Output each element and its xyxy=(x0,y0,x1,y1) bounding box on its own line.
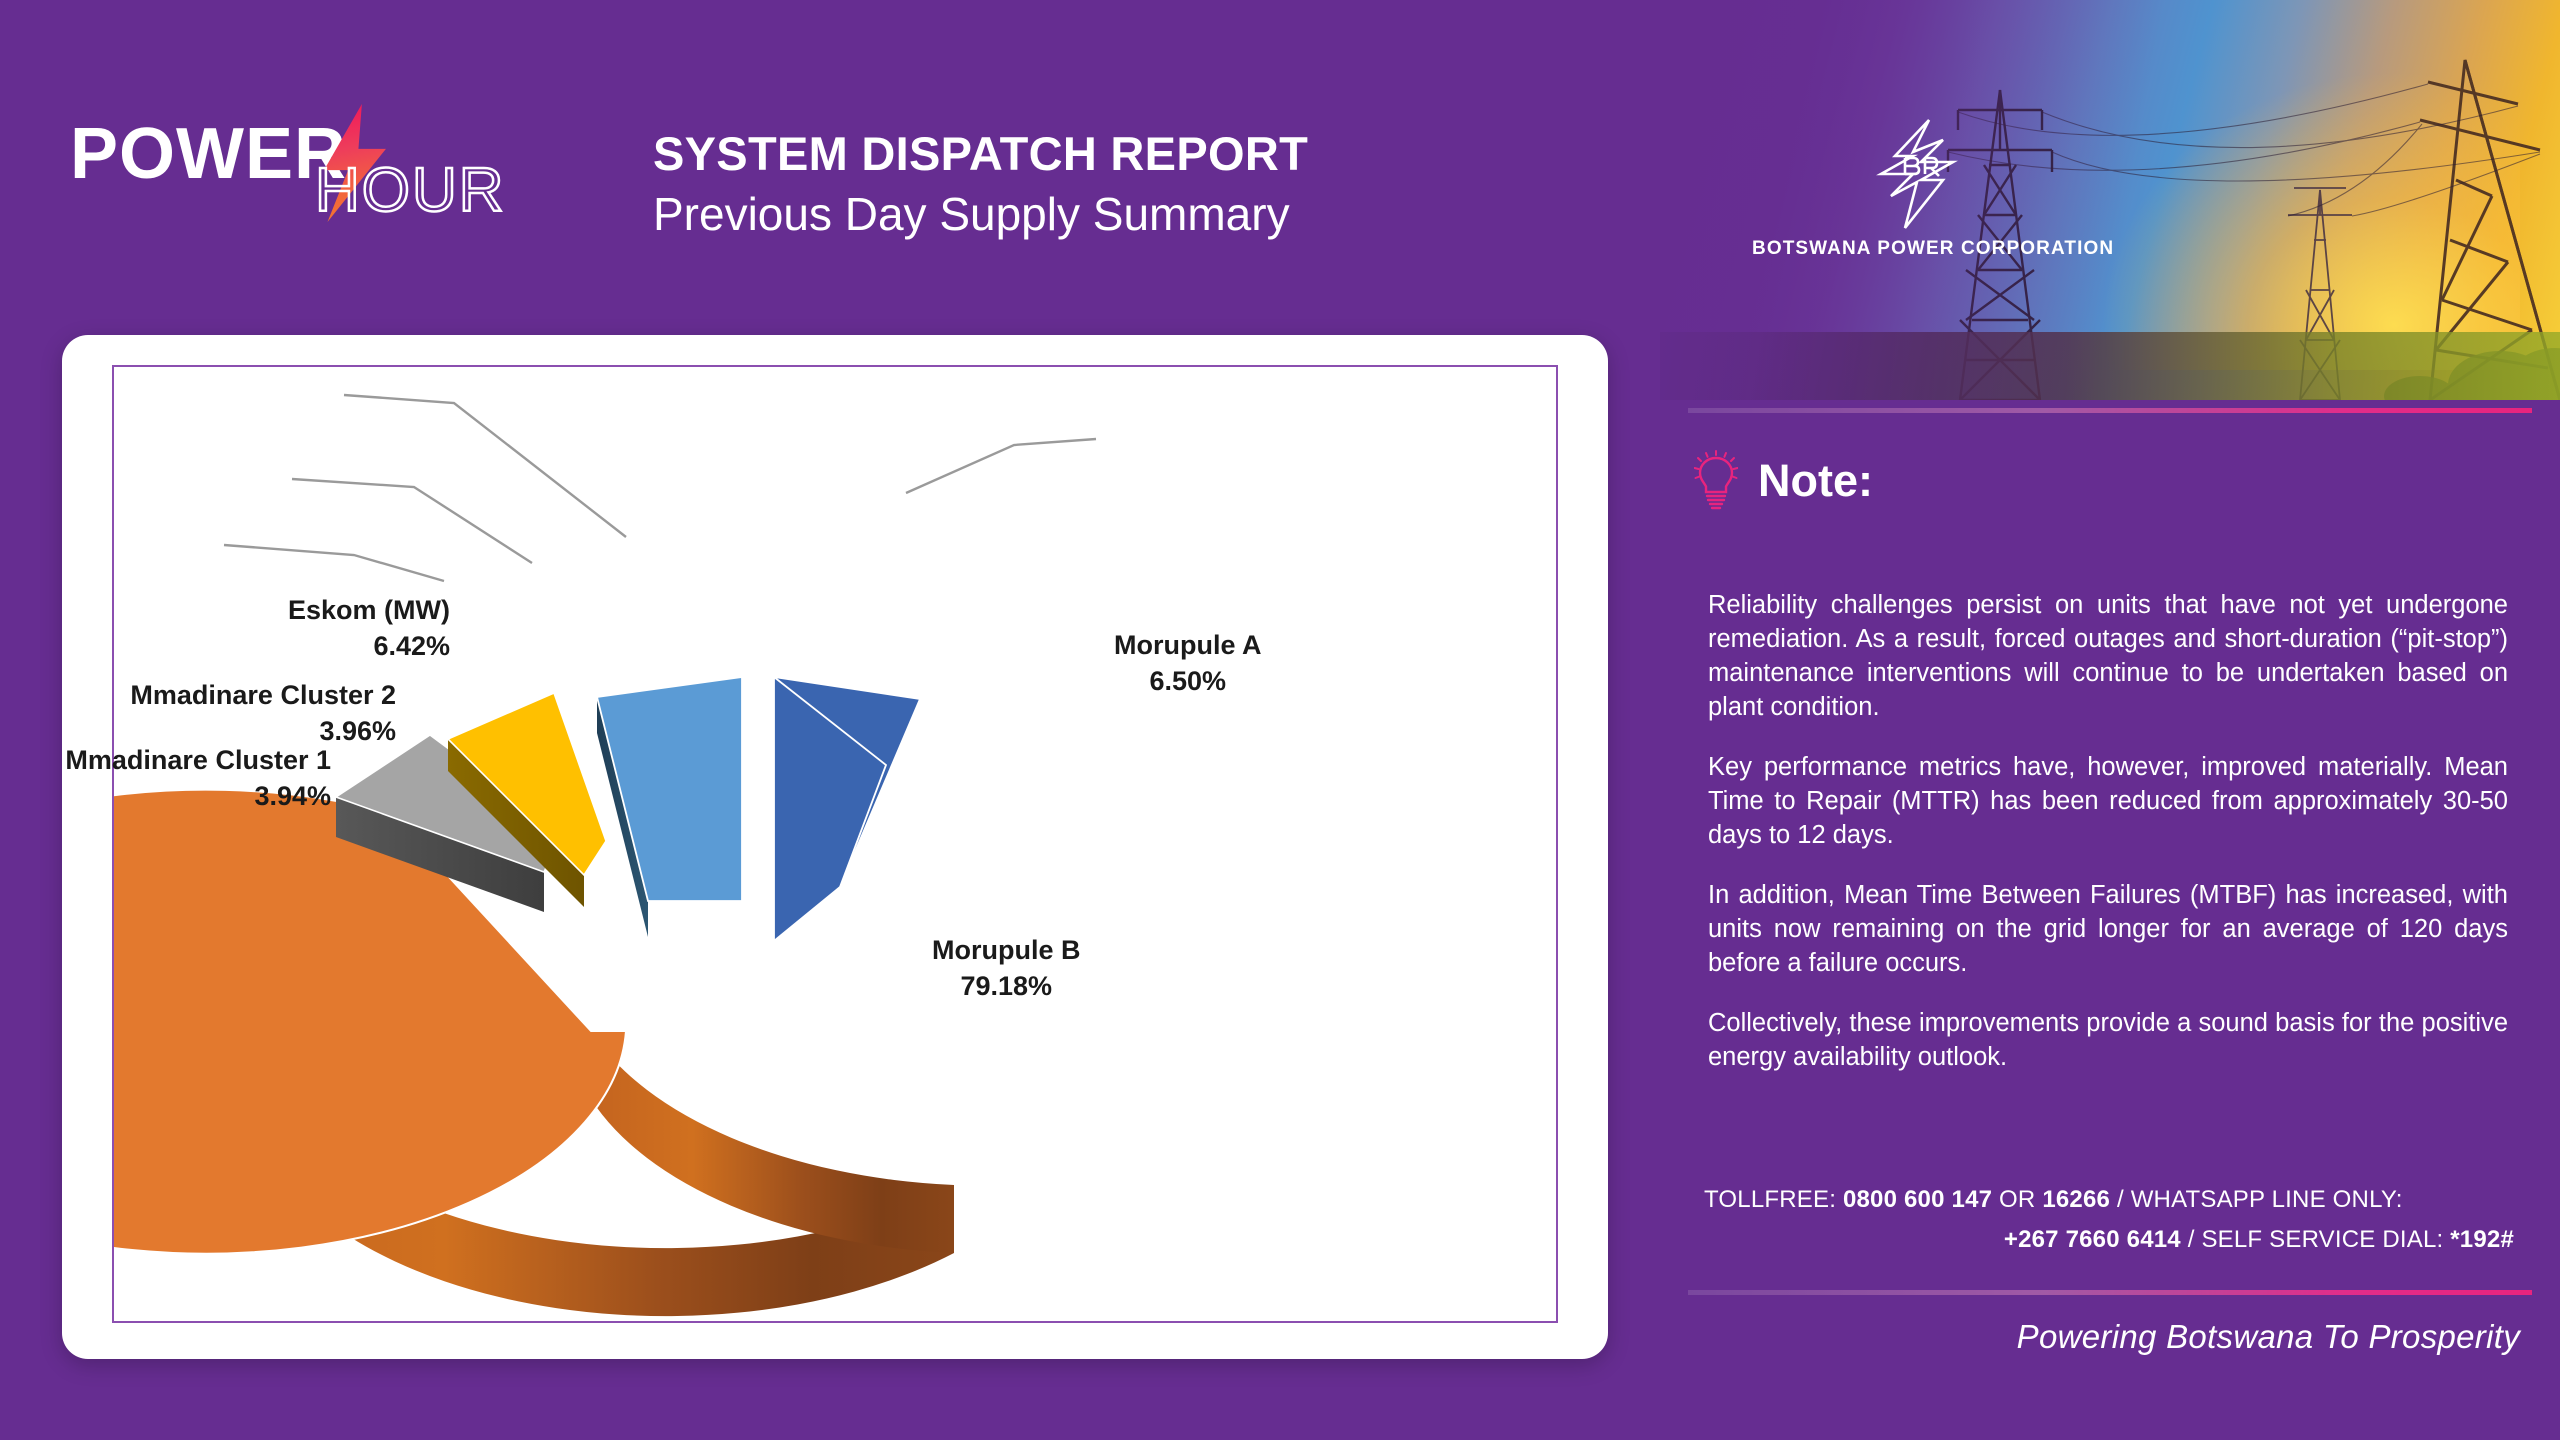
tollfree-number[interactable]: 0800 600 147 xyxy=(1843,1186,1992,1213)
leader-line-eskom xyxy=(344,395,626,537)
note-paragraph-4: Collectively, these improvements provide… xyxy=(1708,1006,2508,1074)
separator-1: / xyxy=(2117,1186,2124,1213)
pie-label-mc1-value: 3.94% xyxy=(65,778,331,814)
contact-line-1: TOLLFREE: 0800 600 147 OR 16266 / WHATSA… xyxy=(1704,1180,2514,1220)
pie-label-mc2-name: Mmadinare Cluster 2 xyxy=(130,677,396,713)
note-paragraph-3: In addition, Mean Time Between Failures … xyxy=(1708,878,2508,980)
pie-label-morupule-b: Morupule B 79.18% xyxy=(932,932,1081,1004)
logo-word-power: POWER xyxy=(70,118,347,190)
or-label: OR xyxy=(1999,1186,2035,1213)
pie-label-mmadinare-cluster-2: Mmadinare Cluster 2 3.96% xyxy=(130,677,396,749)
pie-label-eskom: Eskom (MW) 6.42% xyxy=(288,592,450,664)
note-paragraph-1: Reliability challenges persist on units … xyxy=(1708,588,2508,724)
contact-line-2: +267 7660 6414 / SELF SERVICE DIAL: *192… xyxy=(1704,1220,2514,1260)
page-subtitle: Previous Day Supply Summary xyxy=(653,186,1533,242)
pie-label-morupule-a: Morupule A 6.50% xyxy=(1114,627,1262,699)
selfservice-label: SELF SERVICE DIAL: xyxy=(2201,1226,2443,1253)
tollfree-alt-number[interactable]: 16266 xyxy=(2042,1186,2110,1213)
bpc-logo: BOTSWANA POWER CORPORATION xyxy=(1752,118,2082,260)
tagline: Powering Botswana To Prosperity xyxy=(1660,1318,2520,1356)
whatsapp-number[interactable]: +267 7660 6414 xyxy=(2004,1226,2181,1253)
pie-chart: Eskom (MW) 6.42% Mmadinare Cluster 2 3.9… xyxy=(114,367,1556,1321)
pie-label-eskom-name: Eskom (MW) xyxy=(288,592,450,628)
pie-label-morupule-a-value: 6.50% xyxy=(1114,663,1262,699)
page-title: SYSTEM DISPATCH REPORT xyxy=(653,126,1533,182)
pie-label-eskom-value: 6.42% xyxy=(288,628,450,664)
contact-block: TOLLFREE: 0800 600 147 OR 16266 / WHATSA… xyxy=(1704,1180,2514,1260)
separator-2: / xyxy=(2188,1226,2195,1253)
report-header: SYSTEM DISPATCH REPORT Previous Day Supp… xyxy=(653,126,1533,242)
bpc-lightning-logo-icon xyxy=(1869,118,1965,230)
whatsapp-label: WHATSAPP LINE ONLY: xyxy=(2131,1186,2403,1213)
note-paragraph-2: Key performance metrics have, however, i… xyxy=(1708,750,2508,852)
note-title: Note: xyxy=(1758,456,1873,506)
chart-card: Eskom (MW) 6.42% Mmadinare Cluster 2 3.9… xyxy=(62,335,1608,1359)
pie-label-mc1-name: Mmadinare Cluster 1 xyxy=(65,742,331,778)
slice-side-morupule-b-2 xyxy=(591,1031,954,1253)
leader-line-mmadinare-1 xyxy=(224,545,444,581)
leader-line-morupule-a xyxy=(906,439,1096,493)
right-panel: BOTSWANA POWER CORPORATION Note: Reliabi… xyxy=(1660,0,2560,1440)
leader-line-mmadinare-2 xyxy=(292,479,532,563)
pie-label-mmadinare-cluster-1: Mmadinare Cluster 1 3.94% xyxy=(65,742,331,814)
company-name: BOTSWANA POWER CORPORATION xyxy=(1752,238,2082,260)
power-hour-logo: POWER HOUR xyxy=(62,118,582,228)
pie-label-morupule-b-value: 79.18% xyxy=(932,968,1081,1004)
lightbulb-icon xyxy=(1694,450,1738,512)
divider-bottom xyxy=(1688,1290,2532,1295)
chart-frame: Eskom (MW) 6.42% Mmadinare Cluster 2 3.9… xyxy=(112,365,1558,1323)
logo-word-hour: HOUR xyxy=(315,160,506,222)
pie-label-morupule-a-name: Morupule A xyxy=(1114,627,1262,663)
pie-label-morupule-b-name: Morupule B xyxy=(932,932,1081,968)
note-header: Note: xyxy=(1694,450,1873,512)
left-panel: POWER HOUR SYSTEM DISPATCH REPORT Previo… xyxy=(0,0,1660,1440)
selfservice-code[interactable]: *192# xyxy=(2450,1226,2514,1253)
note-body: Reliability challenges persist on units … xyxy=(1708,588,2508,1074)
tollfree-label: TOLLFREE: xyxy=(1704,1186,1836,1213)
pie-chart-svg xyxy=(114,367,1560,1325)
divider-top xyxy=(1688,408,2532,413)
